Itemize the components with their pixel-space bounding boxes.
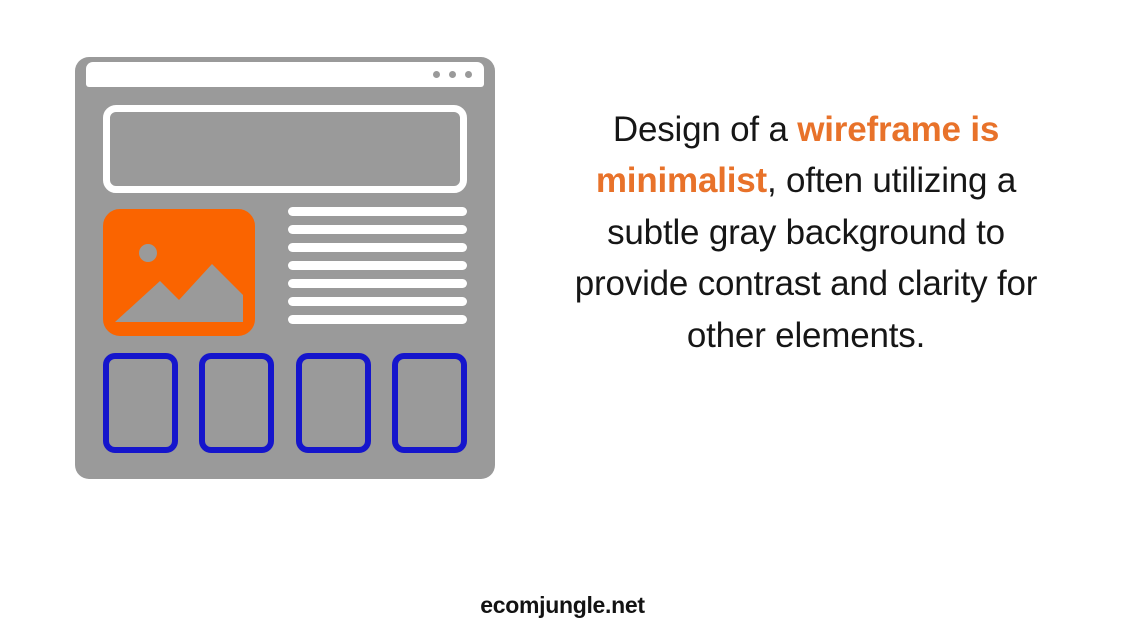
window-dot-icon [465, 71, 472, 78]
caption-part-one: Design of a [613, 110, 797, 149]
card-row [103, 353, 467, 453]
image-placeholder-icon [103, 209, 255, 336]
wireframe-illustration [75, 57, 495, 479]
window-dot-icon [449, 71, 456, 78]
text-line [288, 243, 467, 252]
card-placeholder [296, 353, 371, 453]
browser-title-bar [86, 62, 484, 87]
window-controls-dots [433, 62, 472, 87]
card-placeholder [392, 353, 467, 453]
hero-banner-placeholder [103, 105, 467, 193]
text-line [288, 207, 467, 216]
text-line [288, 297, 467, 306]
card-placeholder [199, 353, 274, 453]
text-line-skeleton [288, 207, 467, 324]
content-row [103, 207, 467, 339]
window-dot-icon [433, 71, 440, 78]
text-line [288, 279, 467, 288]
site-brand: ecomjungle.net [0, 592, 1125, 619]
caption-text: Design of a wireframe is minimalist, oft… [556, 104, 1056, 361]
card-placeholder [103, 353, 178, 453]
text-line [288, 225, 467, 234]
text-line [288, 315, 467, 324]
text-line [288, 261, 467, 270]
slide-canvas: Design of a wireframe is minimalist, oft… [0, 0, 1125, 633]
